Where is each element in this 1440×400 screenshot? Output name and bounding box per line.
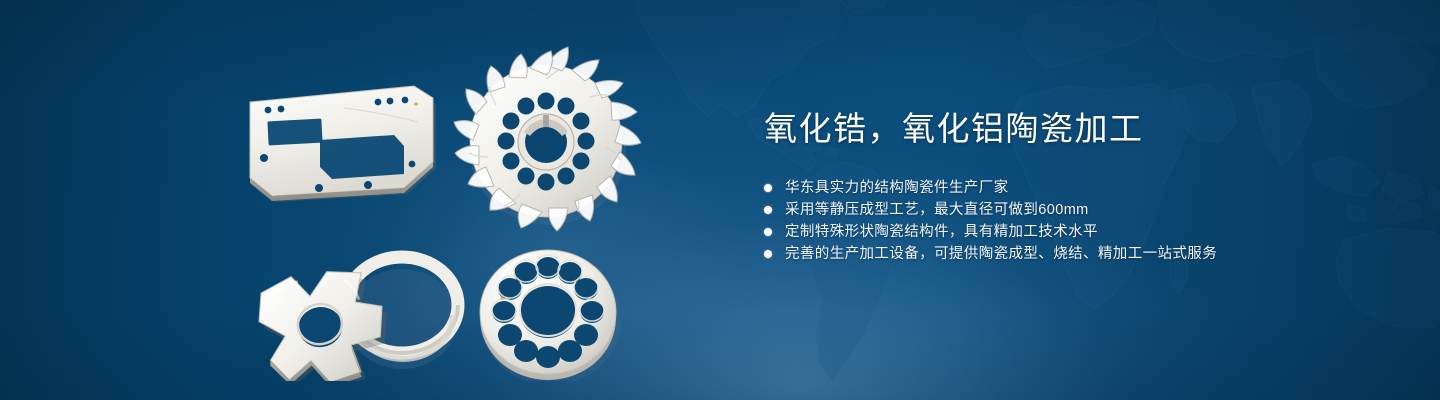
hero-banner: 氧化锆，氧化铝陶瓷加工 华东具实力的结构陶瓷件生产厂家 采用等静压成型工艺，最大…: [0, 0, 1440, 400]
feature-text: 华东具实力的结构陶瓷件生产厂家: [785, 177, 1009, 199]
feature-text: 采用等静压成型工艺，最大直径可做到600mm: [785, 199, 1089, 221]
list-item: 华东具实力的结构陶瓷件生产厂家: [764, 177, 1384, 199]
feature-text: 定制特殊形状陶瓷结构件，具有精加工技术水平: [785, 221, 1098, 243]
bullet-dot-icon: [764, 206, 772, 214]
feature-list: 华东具实力的结构陶瓷件生产厂家 采用等静压成型工艺，最大直径可做到600mm 定…: [764, 177, 1384, 265]
list-item: 完善的生产加工设备，可提供陶瓷成型、烧结、精加工一站式服务: [764, 243, 1384, 265]
bullet-dot-icon: [764, 228, 772, 236]
banner-copy: 氧化锆，氧化铝陶瓷加工 华东具实力的结构陶瓷件生产厂家 采用等静压成型工艺，最大…: [764, 108, 1384, 265]
bullet-dot-icon: [764, 250, 772, 258]
page-title: 氧化锆，氧化铝陶瓷加工: [764, 108, 1384, 149]
ceramic-perforated-disc-part: [480, 250, 621, 381]
list-item: 采用等静压成型工艺，最大直径可做到600mm: [764, 199, 1384, 221]
bullet-dot-icon: [764, 184, 772, 192]
feature-text: 完善的生产加工设备，可提供陶瓷成型、烧结、精加工一站式服务: [785, 243, 1217, 265]
list-item: 定制特殊形状陶瓷结构件，具有精加工技术水平: [764, 221, 1384, 243]
ceramic-plate-part: [250, 86, 436, 202]
ceramic-impeller-part: [454, 47, 641, 231]
ceramic-products-collage: [228, 36, 708, 381]
